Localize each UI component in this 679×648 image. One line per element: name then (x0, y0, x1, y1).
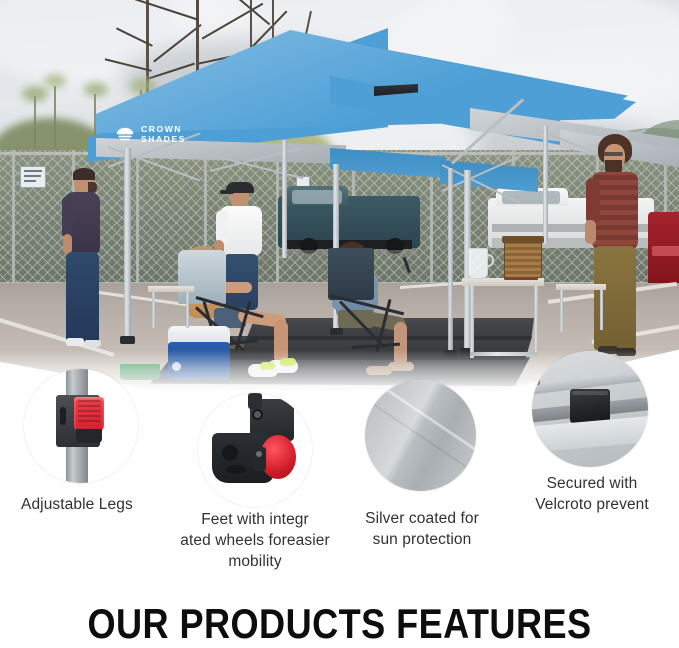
side-table-leg (152, 292, 155, 328)
fence-post (12, 150, 15, 285)
jeans (66, 252, 99, 342)
foot-tube-socket (248, 393, 262, 409)
page-headline: OUR PRODUCTS FEATURES (48, 600, 632, 648)
stake-slot (226, 465, 246, 474)
table-right-leg (560, 290, 563, 332)
arm (62, 196, 73, 238)
logo-line-1: CROWN (141, 124, 186, 134)
stake-hole (222, 445, 238, 461)
caption-line: Feet with integr (162, 509, 348, 530)
arm-sleeve (586, 178, 600, 224)
product-feature-infographic: CROWN SHADES (0, 0, 679, 648)
caption-line: sun protection (340, 529, 504, 550)
bolt (254, 411, 261, 418)
canopy-foot (330, 328, 343, 335)
caption-line: Velcroto prevent (506, 494, 678, 515)
vehicle-taillight (652, 246, 679, 256)
canopy-leg-front-left (124, 148, 131, 340)
folding-table-leg (470, 286, 474, 358)
logo-line-2: SHADES (141, 134, 186, 144)
button-base (76, 429, 102, 443)
hero-photo: CROWN SHADES (0, 0, 679, 392)
foliage (84, 82, 108, 97)
caption-line: Silver coated for (340, 508, 504, 529)
detail-circle-adjustable-legs (24, 369, 138, 483)
canopy-foot (120, 336, 135, 344)
corner-fitting (532, 373, 540, 385)
caption-line: mobility (162, 551, 348, 572)
detail-circle-silver-coating (365, 380, 476, 491)
detail-circle-wheeled-feet (198, 393, 312, 507)
strap-highlight (572, 391, 608, 395)
caption-line: ated wheels foreasier (162, 530, 348, 551)
cap-brim (220, 190, 234, 194)
caption-silver-coating: Silver coated for sun protection (340, 508, 504, 550)
shoe (66, 338, 84, 346)
detail-circle-velcro-secured (532, 351, 648, 467)
red-push-button (74, 397, 104, 431)
basket-lid (502, 236, 544, 243)
housing-slot (60, 407, 66, 425)
hair (73, 168, 95, 180)
caption-wheeled-feet: Feet with integr ated wheels foreasier m… (162, 509, 348, 572)
fence-sign (20, 166, 46, 188)
wheel-axle (256, 451, 262, 457)
table-right-top (556, 284, 606, 290)
brand-logo: CROWN SHADES (115, 124, 186, 144)
crown-icon (115, 126, 135, 142)
camping-chair-back (328, 248, 374, 300)
caption-line: Secured with (506, 473, 678, 494)
wicker-basket (504, 240, 542, 278)
glasses (603, 152, 623, 156)
folding-table-leg (534, 286, 538, 356)
canopy-leg-extension (448, 168, 453, 354)
table-right-leg (600, 290, 603, 330)
canopy-leg-rear-right (543, 126, 548, 244)
water-pitcher (468, 248, 488, 279)
canopy-leg-rear-left (282, 140, 287, 258)
caption-adjustable-legs: Adjustable Legs (21, 494, 181, 515)
side-table-leg (186, 292, 189, 328)
caption-velcro-secured: Secured with Velcroto prevent (506, 473, 678, 515)
forearm (585, 220, 596, 244)
forearm (63, 234, 72, 254)
shoe (84, 340, 101, 347)
arm (216, 210, 228, 244)
fence-post (136, 150, 139, 285)
